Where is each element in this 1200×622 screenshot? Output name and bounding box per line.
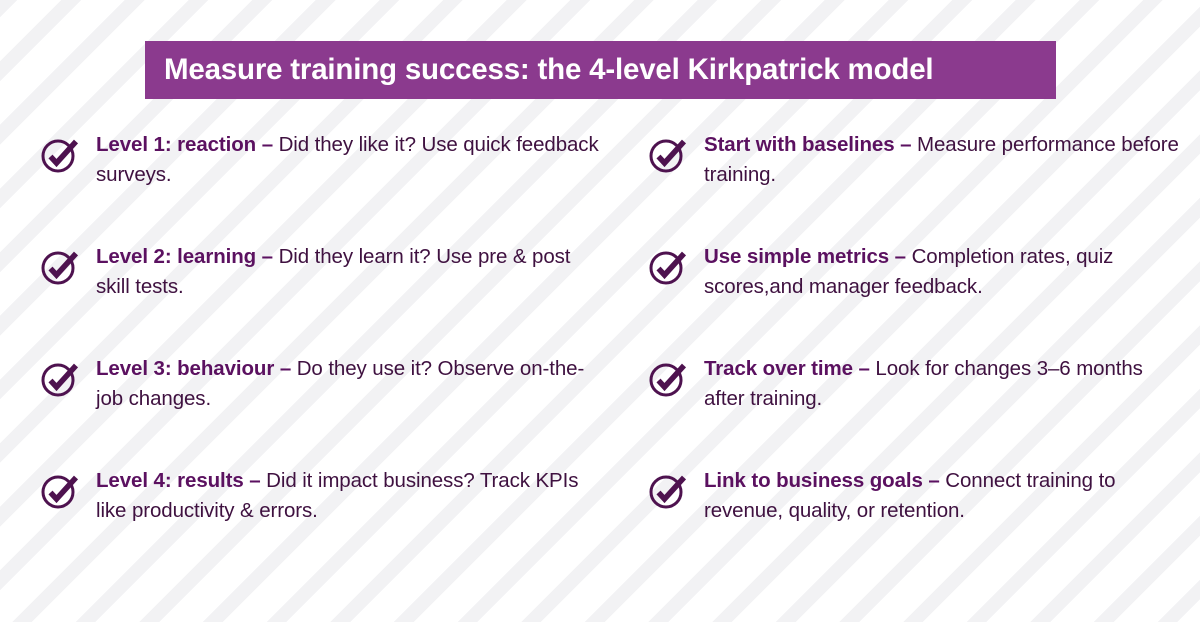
infographic-canvas: Measure training success: the 4-level Ki…	[0, 0, 1200, 622]
circle-check-icon	[40, 470, 80, 510]
list-item: Start with baselines – Measure performan…	[648, 128, 1188, 240]
list-item-dash: –	[889, 245, 912, 268]
list-item-text: Use simple metrics – Completion rates, q…	[704, 240, 1188, 301]
list-item-text: Level 1: reaction – Did they like it? Us…	[96, 128, 600, 189]
circle-check-icon	[40, 358, 80, 398]
list-item: Level 1: reaction – Did they like it? Us…	[40, 128, 600, 240]
list-item-dash: –	[923, 469, 946, 492]
list-item-dash: –	[256, 133, 279, 156]
content-columns: Level 1: reaction – Did they like it? Us…	[0, 128, 1200, 568]
list-item: Level 2: learning – Did they learn it? U…	[40, 240, 600, 352]
circle-check-icon	[40, 134, 80, 174]
list-item-text: Level 4: results – Did it impact busines…	[96, 464, 600, 525]
list-item-dash: –	[244, 469, 267, 492]
list-item: Level 3: behaviour – Do they use it? Obs…	[40, 352, 600, 464]
list-item-text: Link to business goals – Connect trainin…	[704, 464, 1188, 525]
list-item-text: Start with baselines – Measure performan…	[704, 128, 1188, 189]
list-item-dash: –	[853, 357, 876, 380]
list-item-text: Track over time – Look for changes 3–6 m…	[704, 352, 1188, 413]
circle-check-icon	[40, 246, 80, 286]
list-item-dash: –	[895, 133, 918, 156]
list-item: Use simple metrics – Completion rates, q…	[648, 240, 1188, 352]
list-item-lead: Use simple metrics	[704, 245, 889, 268]
circle-check-icon	[648, 358, 688, 398]
list-item-lead: Level 1: reaction	[96, 133, 256, 156]
list-item-lead: Level 3: behaviour	[96, 357, 274, 380]
list-item-lead: Level 2: learning	[96, 245, 256, 268]
list-item: Track over time – Look for changes 3–6 m…	[648, 352, 1188, 464]
page-title: Measure training success: the 4-level Ki…	[164, 55, 933, 85]
list-item: Level 4: results – Did it impact busines…	[40, 464, 600, 576]
left-column: Level 1: reaction – Did they like it? Us…	[40, 128, 600, 576]
right-column: Start with baselines – Measure performan…	[648, 128, 1188, 576]
list-item-text: Level 2: learning – Did they learn it? U…	[96, 240, 600, 301]
list-item-dash: –	[274, 357, 297, 380]
list-item-dash: –	[256, 245, 279, 268]
list-item: Link to business goals – Connect trainin…	[648, 464, 1188, 576]
list-item-lead: Link to business goals	[704, 469, 923, 492]
circle-check-icon	[648, 470, 688, 510]
circle-check-icon	[648, 134, 688, 174]
list-item-text: Level 3: behaviour – Do they use it? Obs…	[96, 352, 600, 413]
title-banner: Measure training success: the 4-level Ki…	[145, 41, 1056, 99]
circle-check-icon	[648, 246, 688, 286]
list-item-lead: Start with baselines	[704, 133, 895, 156]
list-item-lead: Track over time	[704, 357, 853, 380]
list-item-lead: Level 4: results	[96, 469, 244, 492]
